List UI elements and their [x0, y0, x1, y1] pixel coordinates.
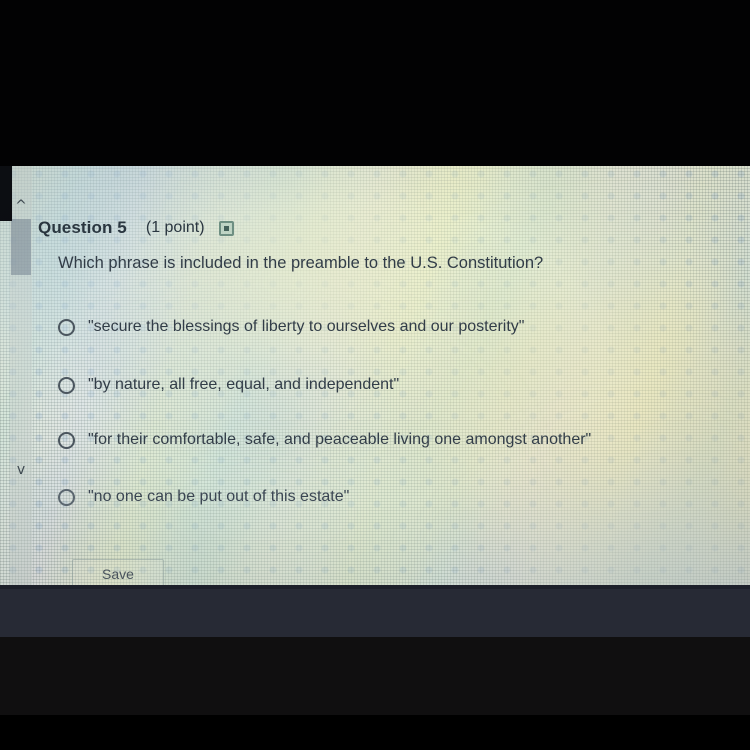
- save-disk-icon[interactable]: [219, 221, 234, 236]
- question-number: Question 5: [38, 218, 127, 238]
- answer-option-c[interactable]: "for their comfortable, safe, and peacea…: [58, 431, 591, 449]
- monitor-bezel: [0, 585, 750, 639]
- save-button[interactable]: Save: [72, 559, 164, 588]
- quiz-content: Question 5 (1 point) Which phrase is inc…: [0, 163, 750, 588]
- answer-option-a[interactable]: "secure the blessings of liberty to ours…: [58, 318, 524, 336]
- radio-button-c[interactable]: [58, 432, 75, 449]
- monitor-screen: ^ v Question 5 (1 point) Which phrase is…: [0, 163, 750, 588]
- save-button-label: Save: [102, 566, 134, 582]
- answer-option-d[interactable]: "no one can be put out of this estate": [58, 488, 349, 506]
- question-header: Question 5 (1 point): [38, 218, 234, 238]
- question-text: Which phrase is included in the preamble…: [58, 254, 543, 273]
- answer-option-c-label: "for their comfortable, safe, and peacea…: [88, 431, 591, 449]
- answer-option-b-label: "by nature, all free, equal, and indepen…: [88, 376, 399, 394]
- answer-option-d-label: "no one can be put out of this estate": [88, 488, 349, 506]
- radio-button-a[interactable]: [58, 319, 75, 336]
- radio-button-d[interactable]: [58, 489, 75, 506]
- answer-option-a-label: "secure the blessings of liberty to ours…: [88, 318, 524, 336]
- photographed-monitor: ^ v Question 5 (1 point) Which phrase is…: [0, 0, 750, 750]
- question-points: (1 point): [146, 219, 205, 237]
- photo-letterbox-bottom: [0, 637, 750, 750]
- photo-letterbox-top: [0, 0, 750, 166]
- radio-button-b[interactable]: [58, 377, 75, 394]
- answer-option-b[interactable]: "by nature, all free, equal, and indepen…: [58, 376, 399, 394]
